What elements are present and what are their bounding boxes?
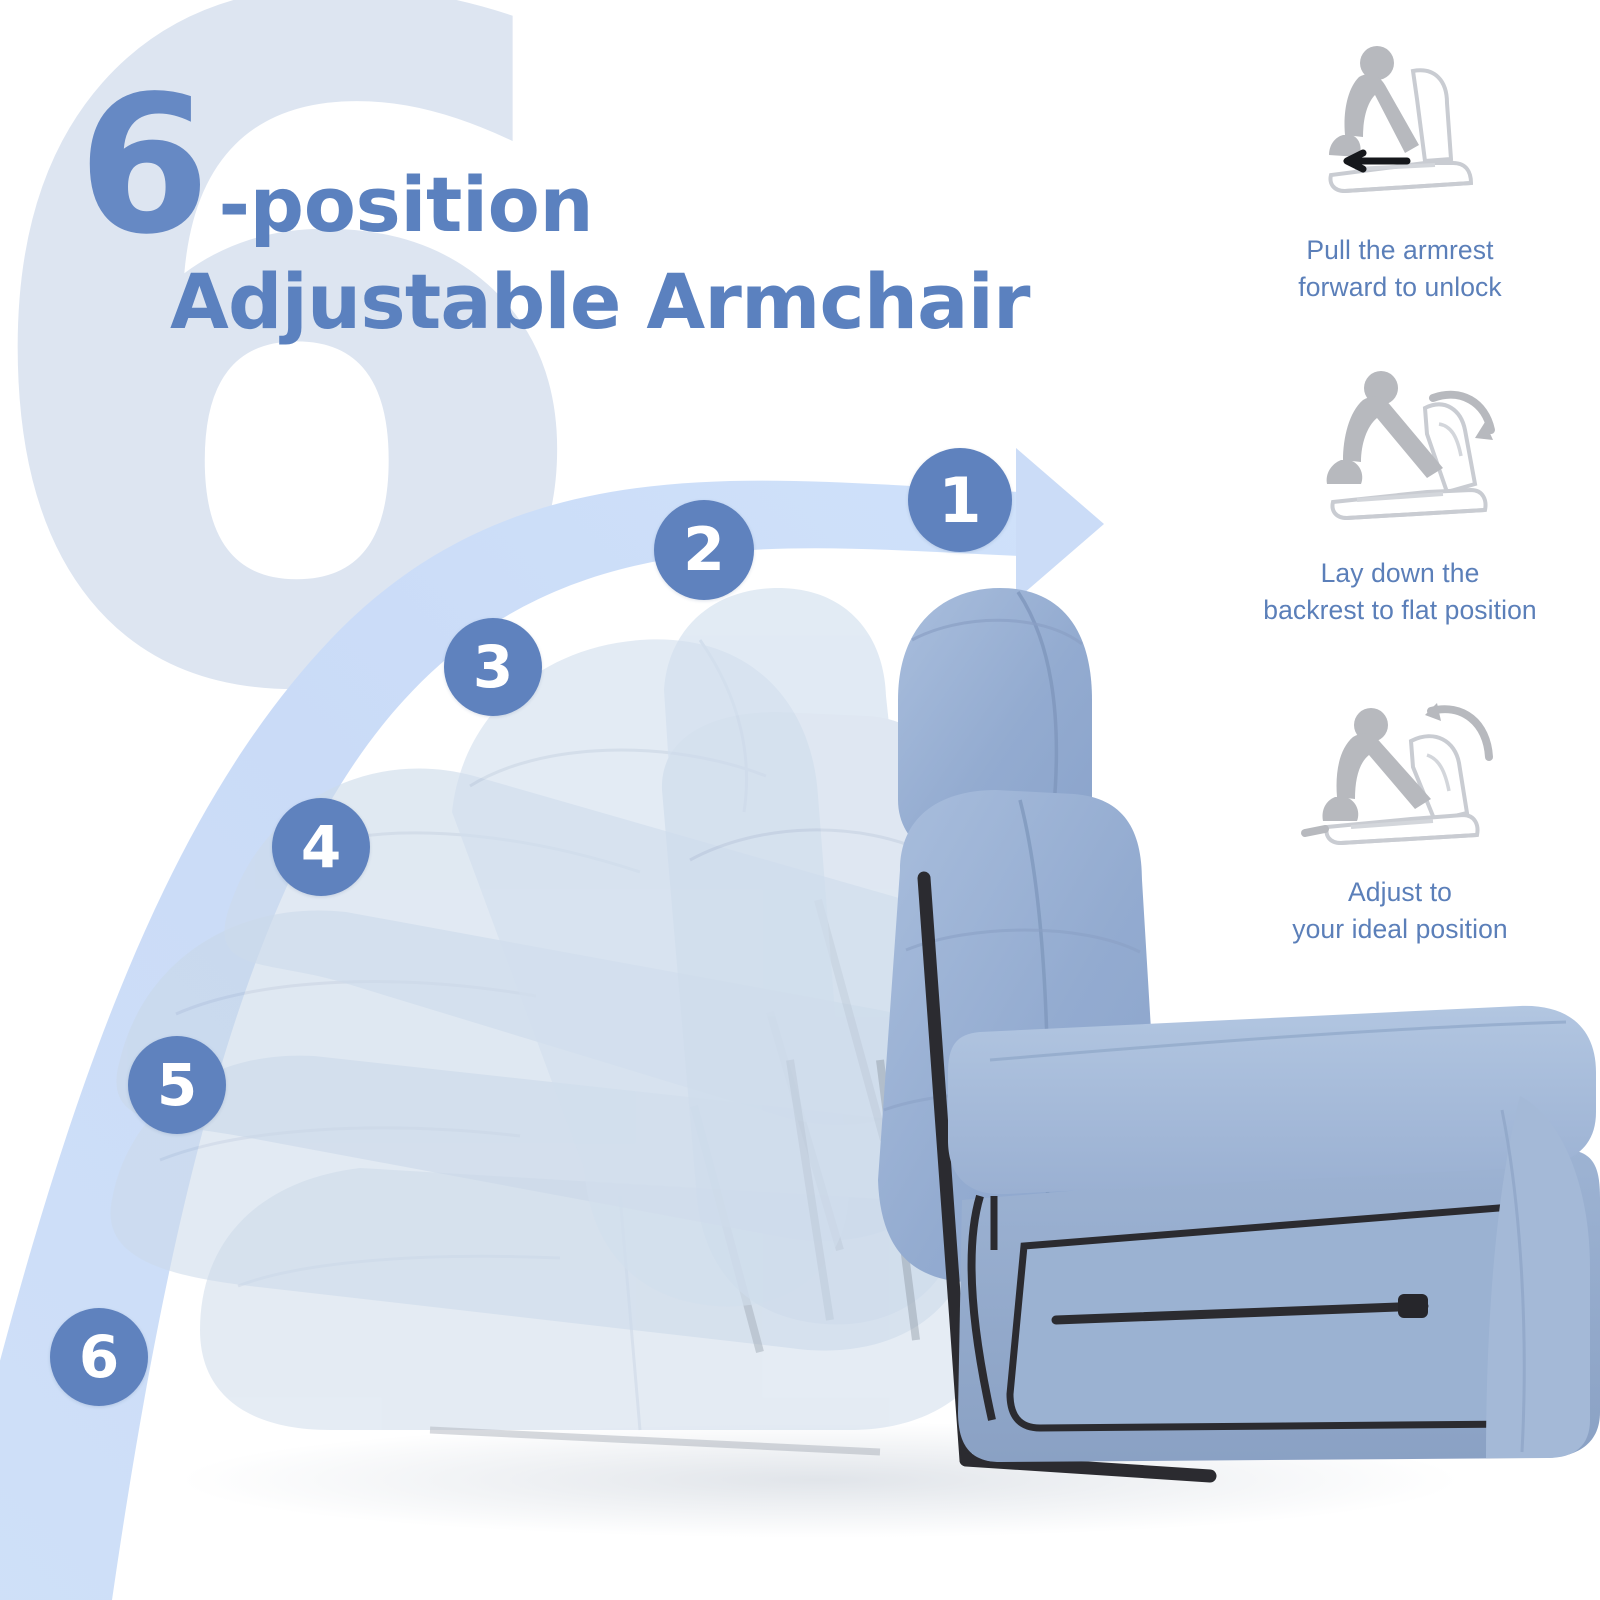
step-badge-2[interactable]: 2 [654,500,754,600]
step-badge-5-label: 5 [157,1051,197,1119]
page-title: 6 -position Adjustable Armchair [78,88,1030,346]
instruction-step-3-caption: Adjust to your ideal position [1292,874,1508,947]
step-badge-3-label: 3 [473,633,513,701]
instruction-step-2: Lay down the backrest to flat position [1200,361,1600,628]
step-badge-3[interactable]: 3 [444,618,542,716]
title-numeral: 6 [78,88,205,244]
instruction-step-1-caption: Pull the armrest forward to unlock [1298,232,1502,305]
step-badge-4-label: 4 [301,813,341,881]
title-position-word: -position [219,160,594,249]
instruction-step-1: Pull the armrest forward to unlock [1200,38,1600,305]
step-badge-1[interactable]: 1 [908,448,1012,552]
step-badge-1-label: 1 [938,464,981,537]
person-adjusting-flat-chair-icon-card: Adjust to your ideal position [1200,680,1600,947]
person-pulling-armrest-icon [1285,38,1515,228]
person-adjusting-flat-chair-icon [1285,680,1515,870]
instruction-steps-column: Pull the armrest forward to unlock [1200,38,1600,947]
step-badge-6-label: 6 [79,1323,119,1391]
infographic-canvas: 6 [0,0,1600,1600]
person-lowering-backrest-icon [1285,361,1515,551]
step-badge-4[interactable]: 4 [272,798,370,896]
step-badge-5[interactable]: 5 [128,1036,226,1134]
title-subtitle: Adjustable Armchair [170,257,1030,346]
instruction-step-2-caption: Lay down the backrest to flat position [1263,555,1537,628]
step-badge-2-label: 2 [683,515,725,585]
step-badge-6[interactable]: 6 [50,1308,148,1406]
